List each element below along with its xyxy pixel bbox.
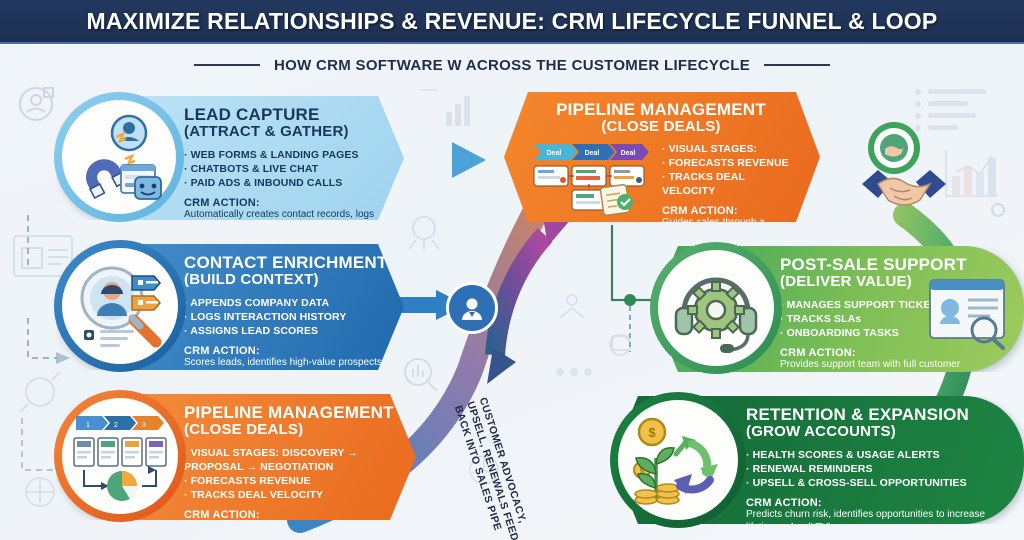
agent-person-icon <box>456 292 488 324</box>
medallion-blue-node <box>446 282 498 334</box>
card-title: PIPELINE MANAGEMENT <box>184 404 400 422</box>
bullet-item: VISUAL STAGES: DISCOVERY → PROPOSAL → NE… <box>184 446 400 474</box>
stage-chip-row: 1 2 3 <box>76 416 164 430</box>
card-bullets: HEALTH SCORES & USAGE ALERTS RENEWAL REM… <box>746 448 990 490</box>
deal-cards-icon: Deal Deal Deal <box>532 142 650 216</box>
crm-action-text: Guides sales through a consistent <box>662 217 790 242</box>
svg-text:$: $ <box>648 425 656 440</box>
bullet-item: ASSIGNS LEAD SCORES <box>184 324 388 338</box>
crm-action-label: CRM ACTION: <box>662 205 790 217</box>
rule-right <box>764 64 830 66</box>
card-title: LEAD CAPTURE <box>184 106 388 124</box>
crm-action-label: CRM ACTION: <box>746 497 990 509</box>
medallion-pipeline-left: 1 2 3 <box>54 390 186 522</box>
card-title: RETENTION & EXPANSION <box>746 406 990 424</box>
bullet-item: LOGS INTERACTION HISTORY <box>184 310 388 324</box>
bullet-item: UPSELL & CROSS-SELL OPPORTUNITIES <box>746 476 990 490</box>
svg-text:3: 3 <box>142 422 146 429</box>
crm-action-label: CRM ACTION: <box>184 197 388 209</box>
medallion-lead-capture <box>54 92 184 222</box>
medallion-green-node <box>868 122 920 174</box>
svg-text:Deal: Deal <box>585 150 600 157</box>
header-bar: MAXIMIZE RELATIONSHIPS & REVENUE: CRM LI… <box>0 0 1024 44</box>
svg-text:Deal: Deal <box>621 150 636 157</box>
magnet-lead-icon <box>69 107 169 207</box>
crm-action-text: Predicts churn risk, identifies opportun… <box>746 509 990 534</box>
crm-action-label: CRM ACTION: <box>184 509 400 521</box>
crm-action-text: Scores leads, identifies high-value pros… <box>184 357 388 370</box>
loop-feedback-label: CUSTOMER ADVOCACY, UPSELL, RENEWALS FEED… <box>451 396 534 540</box>
contact-record-icon <box>928 278 1010 350</box>
handshake-node-icon <box>879 133 909 163</box>
headset-gear-icon <box>666 258 766 358</box>
bullet-item: HEALTH SCORES & USAGE ALERTS <box>746 448 990 462</box>
crm-action-text: Guides sales through a consistent proces… <box>184 521 400 540</box>
svg-text:Deal: Deal <box>547 150 562 157</box>
kanban-pie-icon: 1 2 3 <box>68 404 172 508</box>
card-title: PIPELINE MANAGEMENT <box>532 101 790 119</box>
card-subtitle: (BUILD CONTEXT) <box>184 272 388 289</box>
card-subtitle: (ATTRACT & GATHER) <box>184 124 388 141</box>
crm-action-label: CRM ACTION: <box>184 345 388 357</box>
card-bullets: VISUAL STAGES: DISCOVERY → PROPOSAL → NE… <box>184 446 400 502</box>
medallion-contact-enrichment <box>54 240 186 372</box>
bullet-item: FORECASTS REVENUE <box>662 156 790 170</box>
svg-text:2: 2 <box>114 422 118 429</box>
card-subtitle: (GROW ACCOUNTS) <box>746 424 990 441</box>
card-subtitle: (CLOSE DEALS) <box>184 422 400 439</box>
card-bullets: WEB FORMS & LANDING PAGES CHATBOTS & LIV… <box>184 148 388 190</box>
bullet-item: TRACKS DEAL VELOCITY <box>662 170 790 198</box>
bullet-item: PAID ADS & INBOUND CALLS <box>184 176 388 190</box>
bullet-item: APPENDS COMPANY DATA <box>184 296 388 310</box>
crm-action-text: Provides support team with full customer… <box>780 359 994 384</box>
page-subtitle: HOW CRM SOFTWARE W ACROSS THE CUSTOMER L… <box>274 57 750 74</box>
card-bullets: APPENDS COMPANY DATA LOGS INTERACTION HI… <box>184 296 388 338</box>
bullet-item: VISUAL STAGES: <box>662 142 790 156</box>
crm-action-text: Automatically creates contact records, l… <box>184 209 388 234</box>
bullet-item: CHATBOTS & LIVE CHAT <box>184 162 388 176</box>
rule-left <box>194 64 260 66</box>
card-title: POST-SALE SUPPORT <box>780 256 994 274</box>
bullet-item: RENEWAL REMINDERS <box>746 462 990 476</box>
medallion-post-sale-support <box>650 242 782 374</box>
bullet-item: TRACKS DEAL VELOCITY <box>184 488 400 502</box>
card-pipeline-management-top[interactable]: PIPELINE MANAGEMENT (CLOSE DEALS) Deal D… <box>504 92 820 222</box>
card-bullets: VISUAL STAGES: FORECASTS REVENUE TRACKS … <box>662 142 790 198</box>
card-title: CONTACT ENRICHMENT <box>184 254 388 272</box>
money-plant-cycle-icon: $ $ <box>626 408 730 512</box>
deal-cards-illustration: Deal Deal Deal <box>532 142 652 242</box>
infographic-canvas: MAXIMIZE RELATIONSHIPS & REVENUE: CRM LI… <box>0 0 1024 540</box>
bullet-item: FORECASTS REVENUE <box>184 474 400 488</box>
svg-text:1: 1 <box>86 422 90 429</box>
subtitle-row: HOW CRM SOFTWARE W ACROSS THE CUSTOMER L… <box>0 52 1024 78</box>
bullet-item: WEB FORMS & LANDING PAGES <box>184 148 388 162</box>
page-title: MAXIMIZE RELATIONSHIPS & REVENUE: CRM LI… <box>87 8 938 35</box>
medallion-retention-expansion: $ $ <box>610 392 746 528</box>
magnifier-profile-icon <box>68 254 172 358</box>
card-subtitle: (CLOSE DEALS) <box>532 119 790 136</box>
